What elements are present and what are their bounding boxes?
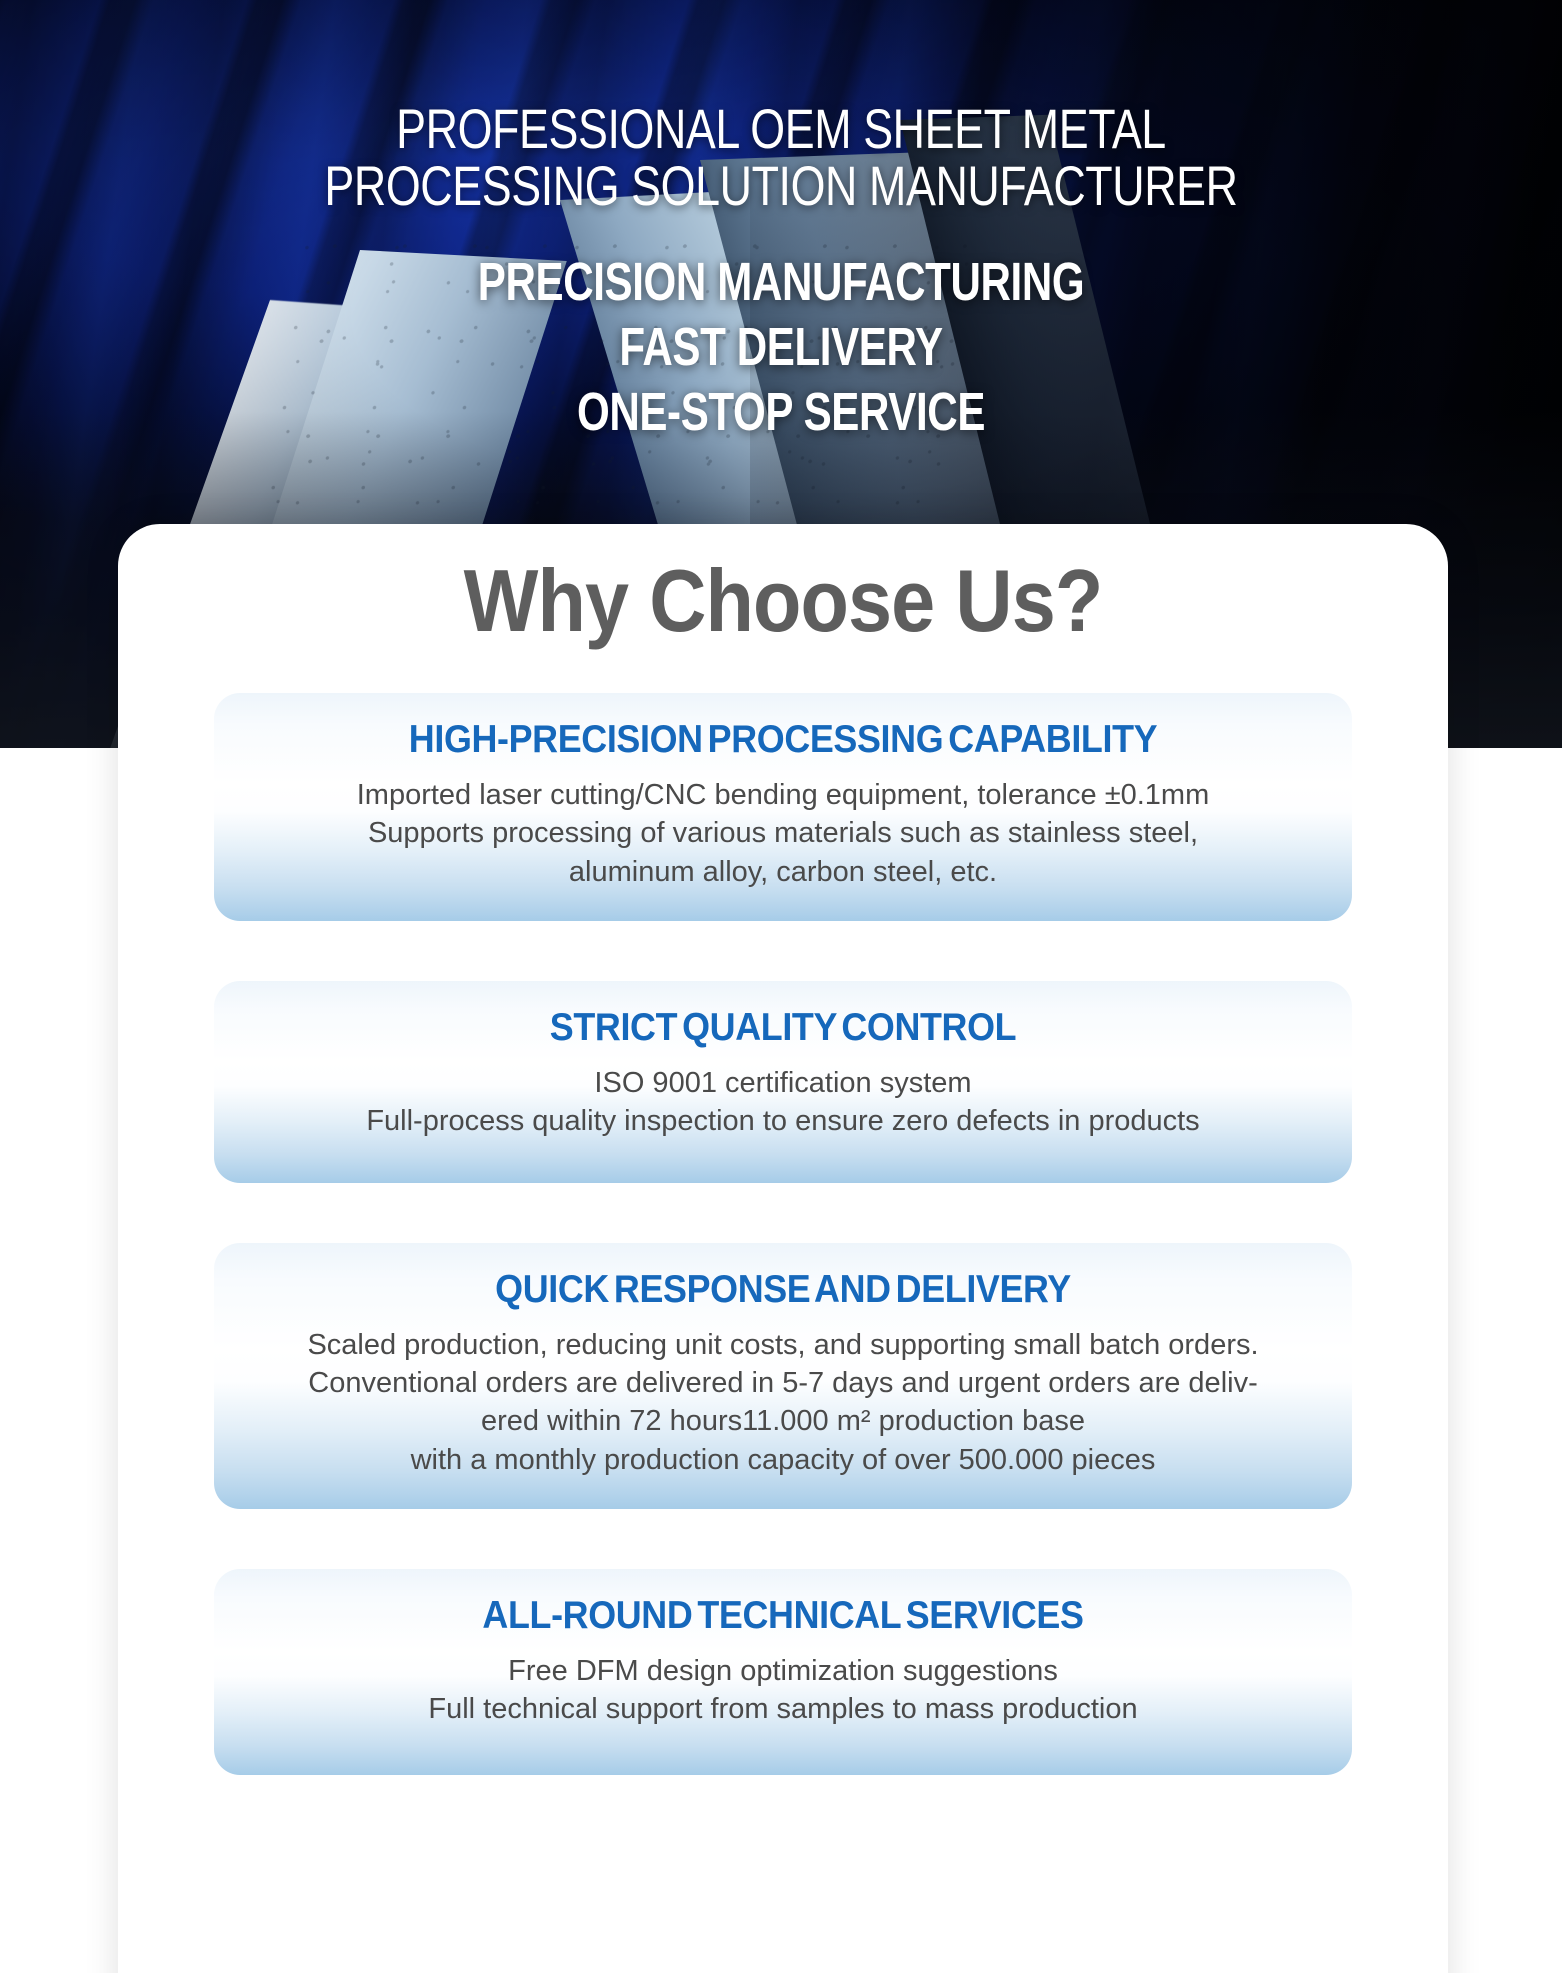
content-panel: Why Choose Us? HIGH-PRECISION PROCESSING… xyxy=(118,524,1448,1973)
feature-card-body: ISO 9001 certification system Full-proce… xyxy=(244,1064,1322,1141)
feature-card-title: ALL-ROUND TECHNICAL SERVICES xyxy=(287,1595,1279,1638)
feature-card-body: Scaled production, reducing unit costs, … xyxy=(244,1326,1322,1479)
hero-subtitle: PRECISION MANUFACTURING FAST DELIVERY ON… xyxy=(172,250,1390,444)
feature-card-body: Free DFM design optimization suggestions… xyxy=(244,1652,1322,1729)
feature-card[interactable]: QUICK RESPONSE AND DELIVERY Scaled produ… xyxy=(214,1243,1352,1509)
page-title: Why Choose Us? xyxy=(185,550,1382,651)
feature-card-body: Imported laser cutting/CNC bending equip… xyxy=(244,776,1322,891)
marketing-page: PROFESSIONAL OEM SHEET METAL PROCESSING … xyxy=(0,0,1562,1973)
hero-title: PROFESSIONAL OEM SHEET METAL PROCESSING … xyxy=(156,100,1406,214)
feature-card-title: HIGH-PRECISION PROCESSING CAPABILITY xyxy=(287,719,1279,762)
feature-card-title: QUICK RESPONSE AND DELIVERY xyxy=(287,1269,1279,1312)
feature-card[interactable]: ALL-ROUND TECHNICAL SERVICES Free DFM de… xyxy=(214,1569,1352,1775)
feature-card-title: STRICT QUALITY CONTROL xyxy=(287,1007,1279,1050)
hero-text-block: PROFESSIONAL OEM SHEET METAL PROCESSING … xyxy=(0,0,1562,445)
feature-card-list: HIGH-PRECISION PROCESSING CAPABILITY Imp… xyxy=(118,693,1448,1775)
feature-card[interactable]: STRICT QUALITY CONTROL ISO 9001 certific… xyxy=(214,981,1352,1183)
feature-card[interactable]: HIGH-PRECISION PROCESSING CAPABILITY Imp… xyxy=(214,693,1352,921)
